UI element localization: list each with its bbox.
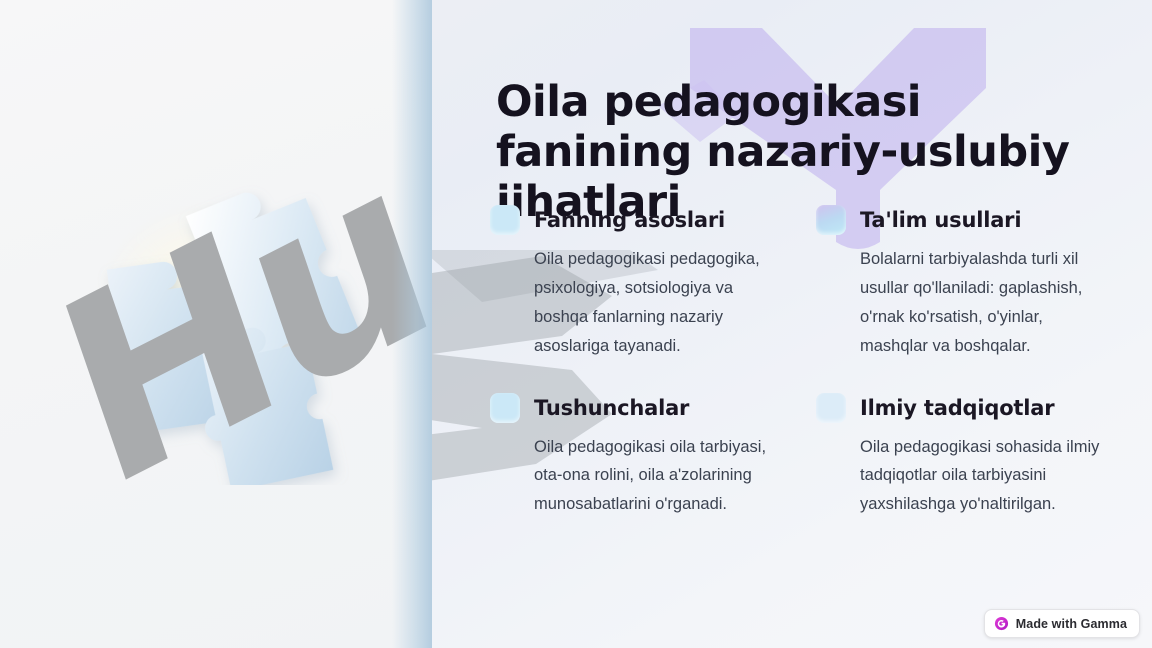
- left-image-panel: Hu: [0, 0, 432, 648]
- square-icon: [816, 205, 846, 235]
- gamma-logo-icon: [994, 616, 1009, 631]
- watermark-text: Hu: [40, 0, 432, 648]
- card-title: Ilmiy tadqiqotlar: [860, 396, 1054, 420]
- card-header: Fanning asoslari: [490, 205, 794, 235]
- card-title: Ta'lim usullari: [860, 208, 1021, 232]
- card-tushunchalar: Tushunchalar Oila pedagogikasi oila tarb…: [490, 393, 794, 520]
- card-header: Ilmiy tadqiqotlar: [816, 393, 1120, 423]
- card-body: Oila pedagogikasi oila tarbiyasi, ota-on…: [534, 433, 784, 520]
- square-icon: [490, 393, 520, 423]
- card-body: Bolalarni tarbiyalashda turli xil usulla…: [860, 245, 1110, 361]
- slide-canvas: Hu Oila pedagogikasi fanining nazariy-us…: [0, 0, 1152, 648]
- card-talim-usullari: Ta'lim usullari Bolalarni tarbiyalashda …: [816, 205, 1120, 361]
- right-content-panel: Oila pedagogikasi fanining nazariy-uslub…: [432, 0, 1152, 648]
- card-title: Fanning asoslari: [534, 208, 725, 232]
- square-icon: [490, 205, 520, 235]
- card-body: Oila pedagogikasi pedagogika, psixologiy…: [534, 245, 784, 361]
- feature-card-grid: Fanning asoslari Oila pedagogikasi pedag…: [490, 205, 1120, 519]
- badge-label: Made with Gamma: [1016, 617, 1127, 631]
- card-fanning-asoslari: Fanning asoslari Oila pedagogikasi pedag…: [490, 205, 794, 361]
- card-ilmiy-tadqiqotlar: Ilmiy tadqiqotlar Oila pedagogikasi soha…: [816, 393, 1120, 520]
- square-icon: [816, 393, 846, 423]
- made-with-gamma-badge[interactable]: Made with Gamma: [984, 609, 1140, 638]
- card-title: Tushunchalar: [534, 396, 689, 420]
- card-header: Tushunchalar: [490, 393, 794, 423]
- card-header: Ta'lim usullari: [816, 205, 1120, 235]
- card-body: Oila pedagogikasi sohasida ilmiy tadqiqo…: [860, 433, 1110, 520]
- photo-edge-fade: [392, 0, 432, 648]
